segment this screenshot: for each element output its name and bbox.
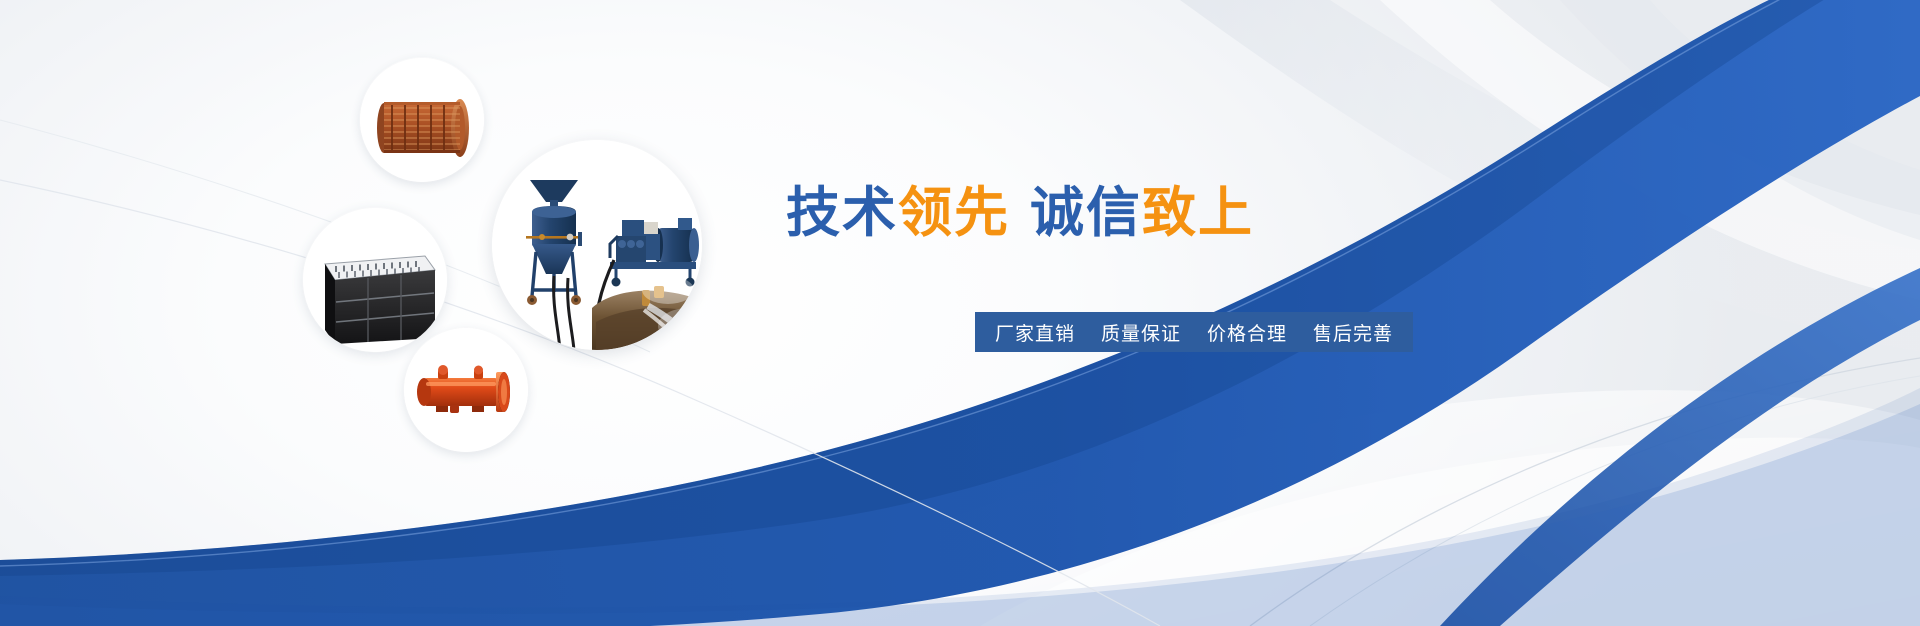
product-circle-red-heat-exchanger [404,328,528,452]
red-heat-exchanger-tank-icon [404,328,528,452]
product-circle-cleaning-equipment [492,140,702,350]
headline-segment-2: 领先 [898,181,1010,244]
product-circle-baffle-plate-assembly [303,208,447,352]
industrial-cleaning-equipment-icon [492,140,702,350]
promo-banner: 技术领先诚信致上 厂家直销 质量保证 价格合理 售后完善 [0,0,1920,626]
benefit-item-2: 质量保证 [1101,319,1181,346]
headline-segment-4: 致上 [1142,181,1254,244]
headline: 技术领先诚信致上 [786,186,1254,240]
benefit-item-4: 售后完善 [1313,319,1393,346]
headline-segment-1: 技术 [786,181,898,244]
background-decoration [0,0,1920,626]
benefit-item-3: 价格合理 [1207,319,1287,346]
benefits-bar: 厂家直销 质量保证 价格合理 售后完善 [975,312,1413,352]
baffle-plate-assembly-icon [303,208,447,352]
benefit-item-1: 厂家直销 [995,319,1075,346]
copper-tube-bundle-icon [360,58,484,182]
headline-segment-3: 诚信 [1030,181,1142,244]
product-circle-copper-tube-bundle [360,58,484,182]
